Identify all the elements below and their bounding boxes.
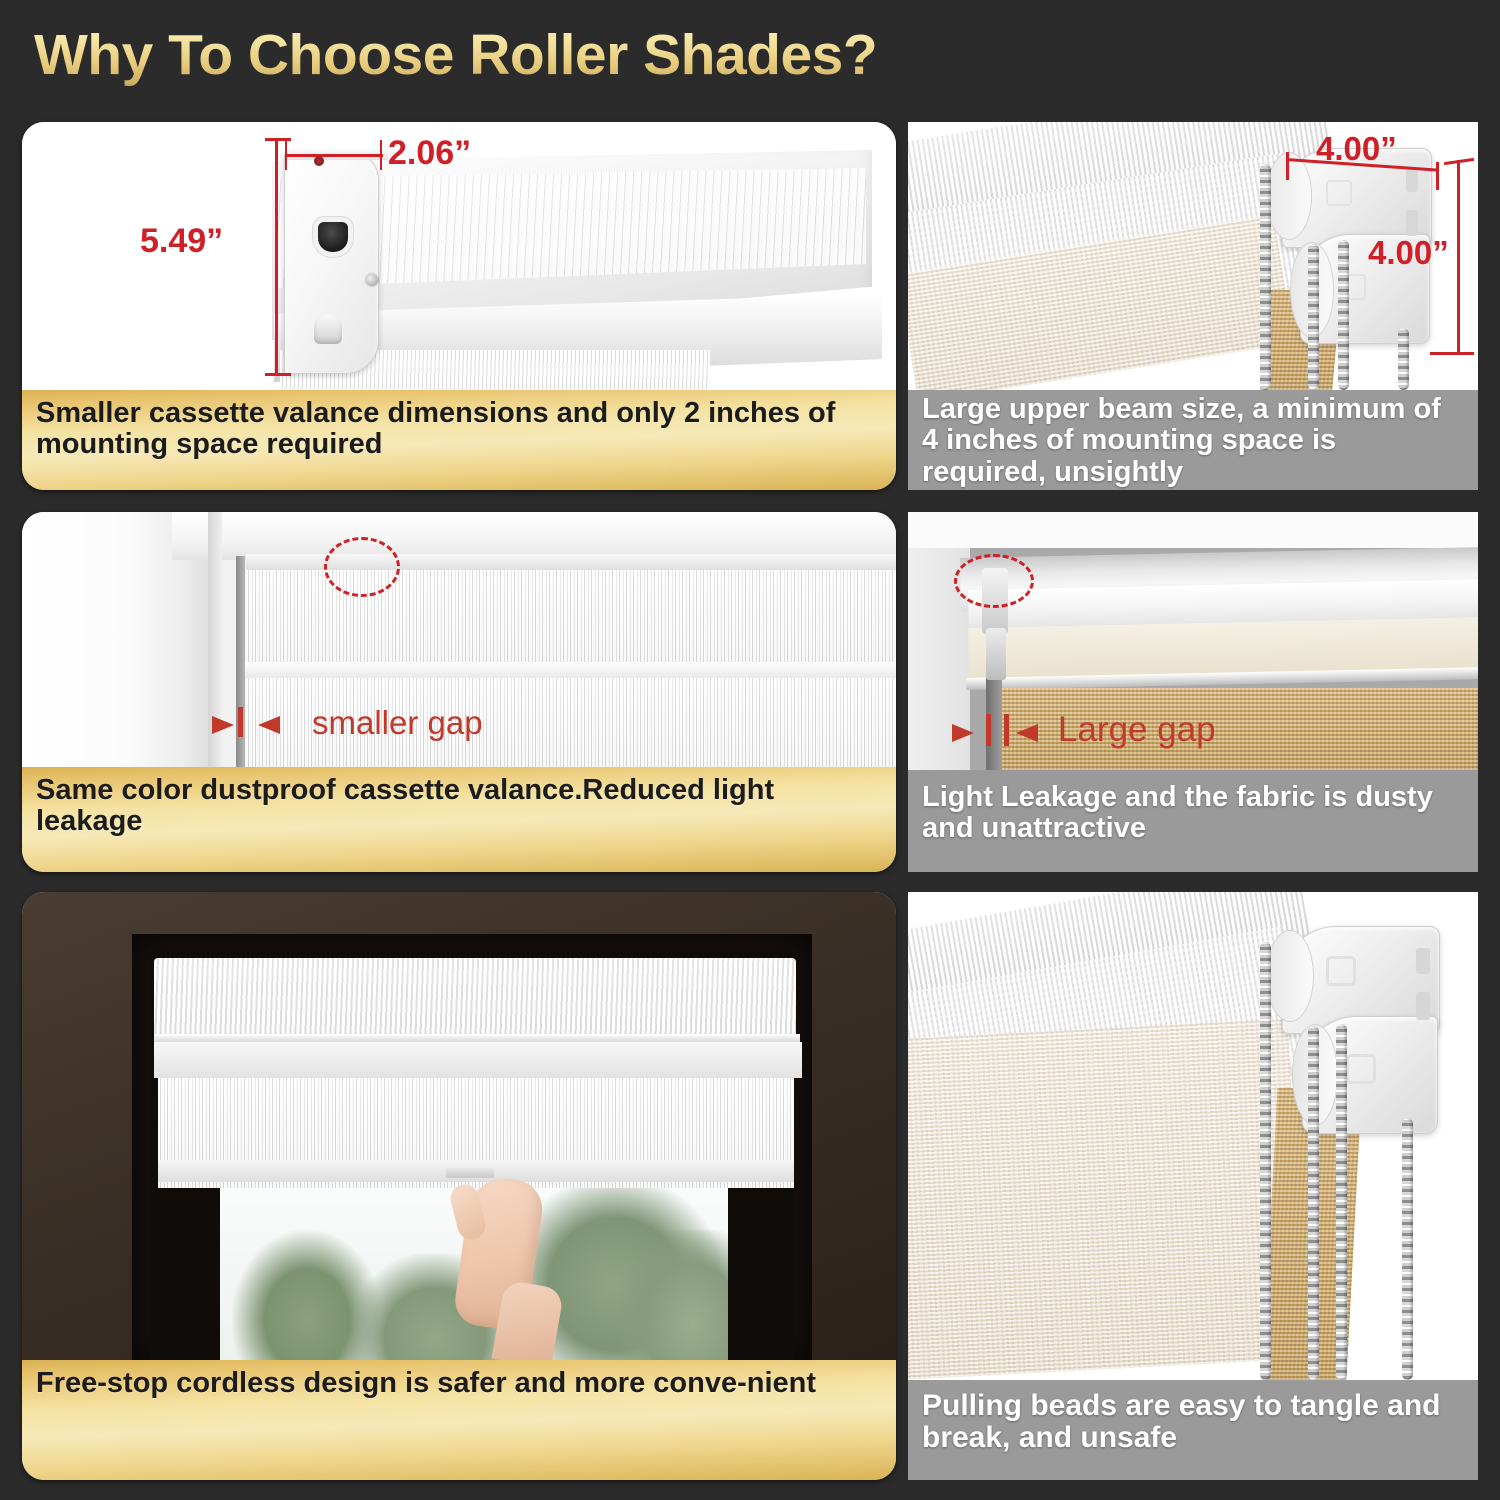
height-dim-vertical-line: [275, 138, 278, 376]
panel-top-right-photo: 4.00” 4.00”: [908, 122, 1478, 390]
gap-dashed-circle: [324, 537, 400, 597]
br-bead-chain-2: [1308, 1026, 1319, 1380]
caption-middle-left-text: Same color dustproof cassette valance.Re…: [36, 775, 882, 838]
bl-cassette-lower-lip: [154, 1042, 802, 1078]
infographic-page: Why To Choose Roller Shades?: [0, 0, 1500, 1500]
br-bead-chain-4: [1402, 1118, 1413, 1380]
gap-arrow-right: [258, 716, 280, 734]
caption-middle-right: Light Leakage and the fabric is dusty an…: [908, 770, 1478, 872]
panel-top-left-photo: 2.06” 5.49”: [22, 122, 896, 390]
panel-bottom-left-photo: [22, 892, 896, 1360]
gap-marker-bar: [238, 707, 243, 737]
bead-chain-4: [1398, 328, 1409, 390]
caption-top-left: Smaller cassette valance dimensions and …: [22, 390, 896, 490]
gap-arrow-left: [212, 716, 234, 734]
panel-middle-left-photo: smaller gap: [22, 512, 896, 767]
caption-bottom-right-text: Pulling beads are easy to tangle and bre…: [922, 1390, 1464, 1455]
bottom-knob: [314, 314, 342, 344]
height-dim-tick-top: [265, 138, 291, 141]
caption-top-left-text: Smaller cassette valance dimensions and …: [36, 398, 882, 461]
br-bead-chain-1: [1260, 942, 1271, 1380]
height-dimension-label: 5.49”: [140, 222, 223, 261]
tr-width-dimension-label: 4.00”: [1316, 130, 1397, 168]
tr-height-tick-bottom: [1430, 352, 1474, 355]
bead-chain-2: [1308, 244, 1319, 390]
mr-white-wall: [908, 512, 1478, 552]
bracket-logo-upper: [1326, 180, 1352, 206]
bead-chain-3: [1338, 240, 1349, 390]
panel-middle-left: smaller gap Same color dustproof cassett…: [22, 512, 896, 872]
mr-gap-bar-2: [1004, 714, 1009, 746]
br-bracket-logo-upper: [1326, 956, 1356, 986]
panel-middle-right: Large gap Light Leakage and the fabric i…: [908, 512, 1478, 872]
width-dim-arrow-line: [285, 154, 383, 157]
bl-shade-pull-tab: [446, 1168, 494, 1178]
mr-gap-arrow-right: [1016, 724, 1038, 742]
bracket-slot-upper: [1406, 168, 1418, 192]
panel-bottom-left: Free-stop cordless design is safer and m…: [22, 892, 896, 1480]
panel-bottom-right: Pulling beads are easy to tangle and bre…: [908, 892, 1478, 1480]
mechanism-slot: [318, 222, 348, 252]
caption-middle-right-text: Light Leakage and the fabric is dusty an…: [922, 782, 1464, 845]
br-bead-chain-3: [1336, 1024, 1347, 1380]
tr-width-ext-left: [1286, 152, 1289, 180]
mr-end-bracket-2: [986, 628, 1006, 680]
panel-top-left: 2.06” 5.49” Smaller cassette valance dim…: [22, 122, 896, 490]
roller-end-disc-top: [1266, 152, 1312, 240]
panel-bottom-right-photo: [908, 892, 1478, 1380]
caption-top-right-text: Large upper beam size, a minimum of 4 in…: [922, 394, 1464, 488]
caption-middle-left: Same color dustproof cassette valance.Re…: [22, 767, 896, 872]
panel-middle-right-photo: Large gap: [908, 512, 1478, 770]
caption-top-right: Large upper beam size, a minimum of 4 in…: [908, 390, 1478, 490]
width-dimension-label: 2.06”: [388, 134, 471, 173]
smaller-gap-label: smaller gap: [312, 704, 483, 742]
tr-width-ext-right: [1436, 162, 1439, 190]
bl-cassette-head: [154, 958, 796, 1036]
br-roller-disc-top: [1266, 930, 1314, 1022]
caption-bottom-left: Free-stop cordless design is safer and m…: [22, 1360, 896, 1480]
br-bracket-slot-upper: [1416, 948, 1430, 974]
panel-top-right: 4.00” 4.00” Large upper beam size, a min…: [908, 122, 1478, 490]
height-dim-tick-bottom: [265, 373, 291, 376]
tr-height-vertical-line: [1457, 160, 1460, 354]
br-bracket-logo-lower: [1346, 1054, 1376, 1084]
screw-mid-icon: [366, 274, 378, 286]
bracket-slot-lower: [1406, 210, 1418, 236]
caption-bottom-left-text: Free-stop cordless design is safer and m…: [36, 1368, 816, 1399]
mr-dashed-circle: [954, 554, 1034, 608]
window-frame-head: [172, 512, 896, 560]
screw-top-icon: [314, 156, 324, 166]
caption-bottom-right: Pulling beads are easy to tangle and bre…: [908, 1380, 1478, 1480]
bead-chain-1: [1260, 164, 1271, 390]
mr-gap-arrow-left: [952, 724, 974, 742]
mr-gap-bar-1: [986, 714, 991, 746]
page-title: Why To Choose Roller Shades?: [34, 22, 877, 88]
br-bracket-slot-lower: [1416, 992, 1430, 1020]
tr-height-dimension-label: 4.00”: [1368, 234, 1449, 272]
large-gap-label: Large gap: [1058, 710, 1216, 750]
tree-4: [618, 1230, 728, 1360]
br-beige-fabric: [908, 1019, 1305, 1379]
